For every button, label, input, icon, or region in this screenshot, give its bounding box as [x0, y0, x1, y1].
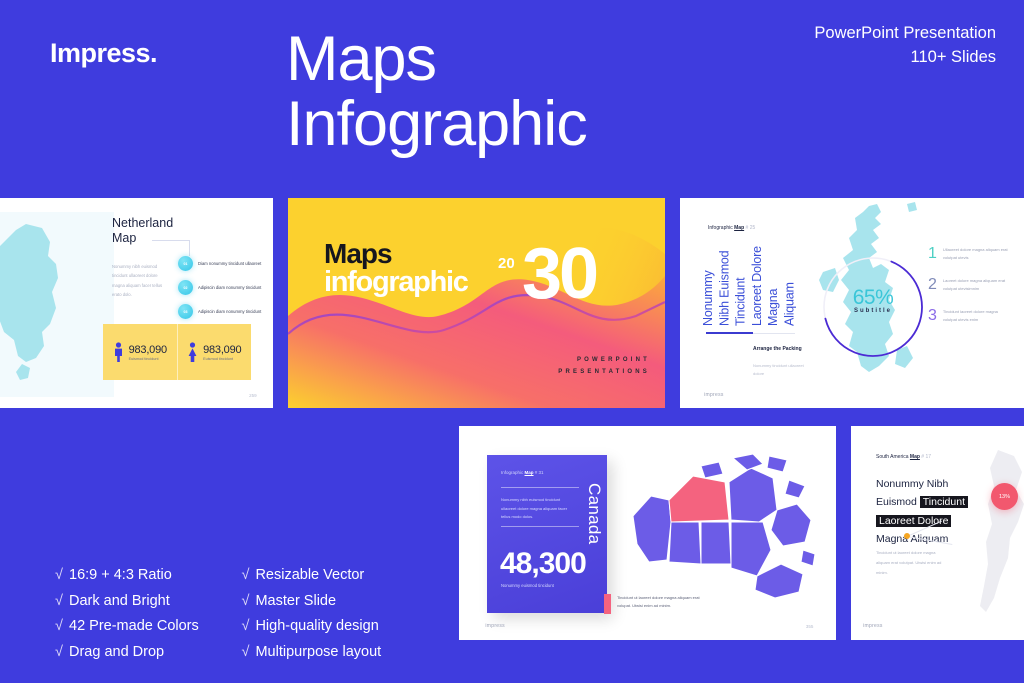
accent-tab — [604, 594, 611, 614]
cover-footer: POWERPOINT PRESENTATIONS — [558, 355, 650, 378]
cover-year-main: 30 — [522, 244, 596, 306]
check-icon: √ — [241, 614, 255, 640]
uk-percent-subtitle: Subtitle — [820, 308, 926, 314]
female-figure-icon — [187, 342, 198, 362]
list-item: 02 Adipiscin diam nonummy tincidunt — [178, 280, 268, 295]
divider — [501, 487, 579, 488]
check-icon: √ — [55, 614, 69, 640]
check-icon: √ — [55, 589, 69, 615]
canada-body-text: Nonummy nibh euismod tincidunt ullaoreet… — [501, 496, 573, 522]
slide-preview-netherland-map[interactable]: Netherland Map Nonummy nibh euismod tinc… — [0, 198, 273, 408]
list-item: 1 Ullaoreet dolore magna aliquam erat vo… — [928, 246, 1010, 263]
feature-column-left: √16:9 + 4:3 Ratio √Dark and Bright √42 P… — [55, 563, 237, 665]
badge-circle-icon: 03 — [178, 304, 193, 319]
uk-vertical-title: Nonummy Nibh Euismod Tincidunt Laoreet D… — [700, 244, 798, 326]
uk-numbered-list: 1 Ullaoreet dolore magna aliquam erat vo… — [928, 246, 1010, 338]
feature-list: √16:9 + 4:3 Ratio √Dark and Bright √42 P… — [55, 563, 435, 665]
page-header: Impress. Maps Infographic PowerPoint Pre… — [0, 0, 1024, 198]
list-item: 03 Adipiscin diam nonummy tincidunt — [178, 304, 268, 319]
slide-page-number: 259 — [249, 393, 257, 398]
map-node-marker — [904, 533, 910, 539]
feature-item: √16:9 + 4:3 Ratio — [55, 563, 237, 589]
list-item: 01 Diam nonummy tincidunt ullaoreet — [178, 256, 268, 271]
slide-preview-cover[interactable]: Maps infographic 20 30 POWERPOINT PRESEN… — [288, 198, 665, 408]
canada-country-label: Canada — [584, 483, 604, 544]
netherland-stat-cards: 983,090 Euismod tincidunt 983,090 Euismo… — [103, 324, 251, 380]
netherland-point-list: 01 Diam nonummy tincidunt ullaoreet 02 A… — [178, 256, 268, 328]
title-rule-vertical — [189, 240, 190, 256]
slide-kicker: South America Map # 17 — [876, 454, 931, 460]
slide-kicker: Infographic Map # 31 — [501, 470, 544, 475]
cover-word-infographic: infographic — [324, 269, 468, 297]
header-meta-product: PowerPoint Presentation — [814, 22, 996, 46]
slide-preview-canada-map[interactable]: Infographic Map # 31 Nonummy nibh euismo… — [459, 426, 836, 640]
uk-sub-body: Nonummy tincidunt ullaoreet dolore — [753, 362, 808, 378]
feature-item: √Dark and Bright — [55, 589, 237, 615]
uk-sub-title: Arrange the Packing — [753, 345, 808, 353]
brand-logo: Impress. — [50, 38, 157, 69]
slide-impress-mark: impress — [485, 623, 505, 629]
canada-stat-value: 48,300 — [500, 547, 586, 581]
list-item: 3 Tincidunt laoreet dolore magna volutpa… — [928, 308, 1010, 325]
feature-item: √Resizable Vector — [241, 563, 381, 589]
netherland-slide-title: Netherland Map — [112, 216, 173, 246]
male-figure-icon — [113, 342, 124, 362]
check-icon: √ — [241, 563, 255, 589]
page-title: Maps Infographic — [286, 27, 587, 157]
slide-preview-uk-map[interactable]: Infographic Map # 25 Nonummy Nibh Euismo… — [680, 198, 1024, 408]
slide-impress-mark: impress — [704, 392, 724, 398]
feature-item: √High-quality design — [241, 614, 381, 640]
stat-card-male: 983,090 Euismod tincidunt — [103, 324, 177, 380]
header-meta-count: 110+ Slides — [814, 46, 996, 70]
feature-item: √42 Pre-made Colors — [55, 614, 237, 640]
feature-item: √Master Slide — [241, 589, 381, 615]
canada-stat-label: Nonummy euismod tincidunt — [501, 583, 554, 588]
title-underline — [706, 332, 753, 334]
header-meta: PowerPoint Presentation 110+ Slides — [814, 22, 996, 70]
cover-year-prefix: 20 — [498, 255, 515, 272]
netherland-body-text: Nonummy nibh euismod tincidunt ullaoreet… — [112, 262, 170, 300]
page-title-line-2: Infographic — [286, 92, 587, 157]
check-icon: √ — [241, 640, 255, 666]
percent-badge: 13% — [991, 483, 1018, 510]
title-hairline — [753, 333, 795, 334]
badge-circle-icon: 01 — [178, 256, 193, 271]
list-item: 2 Laoreet dolore magna aliquam erat volu… — [928, 277, 1010, 294]
canada-map-graphic — [627, 452, 817, 612]
feature-item: √Drag and Drop — [55, 640, 237, 666]
slide-preview-south-america-map[interactable]: South America Map # 17 Nonummy Nibh Euis… — [851, 426, 1024, 640]
check-icon: √ — [55, 640, 69, 666]
page-title-line-1: Maps — [286, 27, 587, 92]
divider — [501, 526, 579, 527]
check-icon: √ — [55, 563, 69, 589]
cover-word-maps: Maps — [324, 241, 392, 268]
south-america-map-graphic — [952, 446, 1024, 616]
slide-page-number: 355 — [806, 624, 814, 629]
slide-kicker: Infographic Map # 25 — [708, 225, 755, 231]
uk-percent-value: 65% — [820, 286, 926, 310]
check-icon: √ — [241, 589, 255, 615]
slide-impress-mark: impress — [863, 623, 883, 629]
stat-card-female: 983,090 Euismod tincidunt — [177, 324, 252, 380]
feature-item: √Multipurpose layout — [241, 640, 381, 666]
canada-info-card: Infographic Map # 31 Nonummy nibh euismo… — [487, 455, 607, 613]
title-rule — [152, 240, 190, 241]
feature-column-right: √Resizable Vector √Master Slide √High-qu… — [241, 563, 381, 665]
badge-circle-icon: 02 — [178, 280, 193, 295]
south-america-body-text: Tincidunt ut laoreet dolore magna aliqua… — [876, 548, 946, 577]
